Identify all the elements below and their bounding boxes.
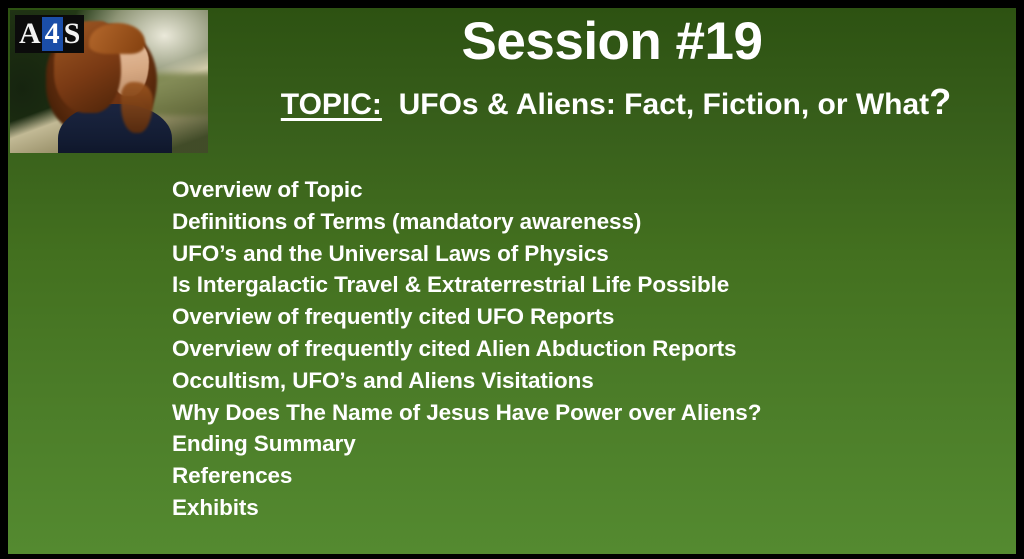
topic-question-mark: ? [929,81,951,122]
slide-canvas: A 4 S Session #19 TOPIC: UFOs & Aliens: … [8,8,1016,554]
list-item: UFO’s and the Universal Laws of Physics [172,238,1006,270]
list-item: Overview of Topic [172,174,1006,206]
list-item: Overview of frequently cited Alien Abduc… [172,333,1006,365]
topic-line: TOPIC: UFOs & Aliens: Fact, Fiction, or … [214,73,1010,127]
list-item: Definitions of Terms (mandatory awarenes… [172,206,1006,238]
photo-subject-hair-top [89,23,144,54]
slide-header: Session #19 TOPIC: UFOs & Aliens: Fact, … [214,8,1010,127]
list-item: References [172,460,1006,492]
list-item: Occultism, UFO’s and Aliens Visitations [172,365,1006,397]
page-title: Session #19 [214,8,1010,73]
speaker-photo: A 4 S [10,10,208,153]
logo-letter-a: A [18,17,42,51]
topic-text: UFOs & Aliens: Fact, Fiction, or What [399,88,930,121]
agenda-list: Overview of Topic Definitions of Terms (… [172,174,1006,524]
slide-frame: A 4 S Session #19 TOPIC: UFOs & Aliens: … [0,0,1024,559]
logo-letter-s: S [63,17,82,51]
a4s-logo: A 4 S [15,15,84,53]
list-item: Ending Summary [172,428,1006,460]
logo-letter-4: 4 [42,17,63,51]
list-item: Is Intergalactic Travel & Extraterrestri… [172,269,1006,301]
list-item: Overview of frequently cited UFO Reports [172,301,1006,333]
list-item: Exhibits [172,492,1006,524]
topic-label: TOPIC: [281,88,382,121]
list-item: Why Does The Name of Jesus Have Power ov… [172,397,1006,429]
photo-subject-hair-strand [121,82,153,133]
